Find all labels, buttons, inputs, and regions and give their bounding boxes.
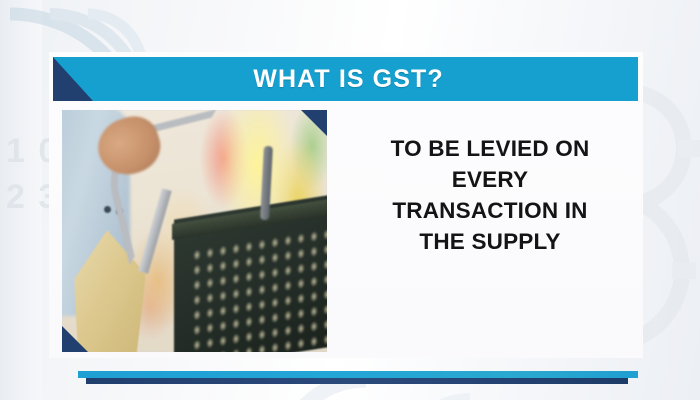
- grocery-photo: [62, 110, 327, 352]
- footer-bar-navy: [86, 378, 628, 384]
- page-title: WHAT IS GST?: [53, 57, 638, 101]
- footer-bar-cyan: [78, 371, 638, 378]
- photo-corner-top-right: [301, 110, 327, 136]
- slide-title-bar: WHAT IS GST?: [53, 57, 638, 101]
- body-text-line: TO BE LEVIED ON: [345, 133, 635, 164]
- slide-body: TO BE LEVIED ON EVERY TRANSACTION IN THE…: [53, 105, 638, 355]
- slide-canvas: 1 0 2 3 WHAT IS GST?: [0, 0, 700, 400]
- body-text-line: THE SUPPLY: [345, 226, 635, 257]
- photo-corner-bottom-left: [62, 326, 88, 352]
- body-text-line: EVERY: [345, 164, 635, 195]
- photo-sleeve-button: [104, 206, 111, 213]
- body-text-line: TRANSACTION IN: [345, 195, 635, 226]
- photo-backdrop: [62, 110, 327, 352]
- body-text: TO BE LEVIED ON EVERY TRANSACTION IN THE…: [345, 133, 635, 257]
- background-left-band: [0, 0, 42, 400]
